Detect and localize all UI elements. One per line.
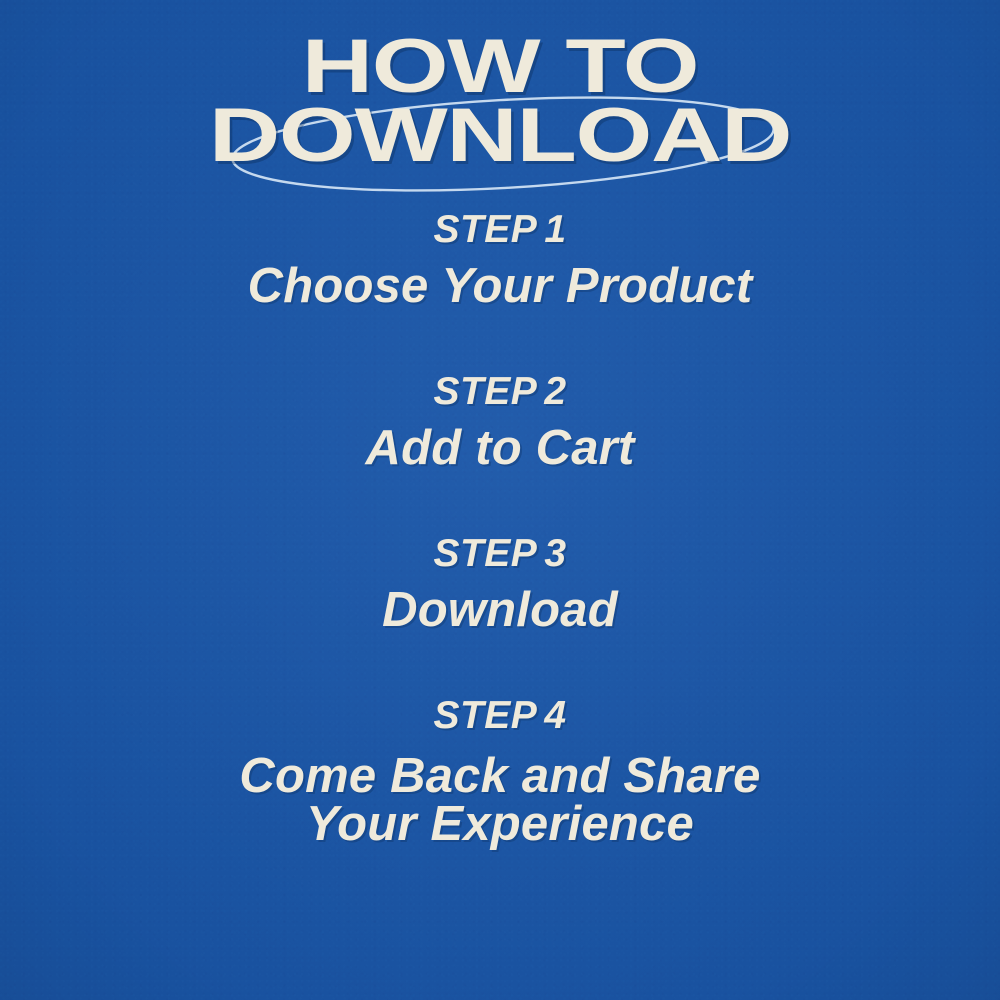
title-line-how-to: HOW TO (0, 34, 1000, 99)
title-line-download: DOWNLOAD (0, 103, 1000, 168)
step-label-3-number: 3 (544, 532, 566, 575)
step-item-2: STEP2 Add to Cart (0, 372, 1000, 474)
step-item-4: STEP4 Come Back and Share Your Experienc… (0, 696, 1000, 849)
step-label-3-word: STEP (433, 532, 537, 575)
page-title: HOW TO DOWNLOAD (0, 34, 1000, 169)
step-label-2-number: 2 (544, 370, 566, 413)
step-label-2: STEP2 (0, 372, 1000, 411)
poster-canvas: HOW TO DOWNLOAD STEP1 Choose Your Produc… (0, 0, 1000, 1000)
step-label-4: STEP4 (0, 696, 1000, 735)
step-label-4-number: 4 (544, 694, 566, 737)
step-text-4: Come Back and Share Your Experience (0, 752, 1000, 849)
step-label-2-word: STEP (433, 370, 537, 413)
steps-list: STEP1 Choose Your Product STEP2 Add to C… (0, 210, 1000, 849)
step-item-3: STEP3 Download (0, 534, 1000, 636)
step-label-1-number: 1 (544, 208, 566, 251)
step-label-4-word: STEP (433, 694, 537, 737)
step-label-3: STEP3 (0, 534, 1000, 573)
step-label-1-word: STEP (433, 208, 537, 251)
step-text-1: Choose Your Product (0, 262, 1000, 312)
step-text-2: Add to Cart (0, 424, 1000, 474)
step-label-1: STEP1 (0, 210, 1000, 249)
step-text-3: Download (0, 586, 1000, 636)
step-item-1: STEP1 Choose Your Product (0, 210, 1000, 312)
